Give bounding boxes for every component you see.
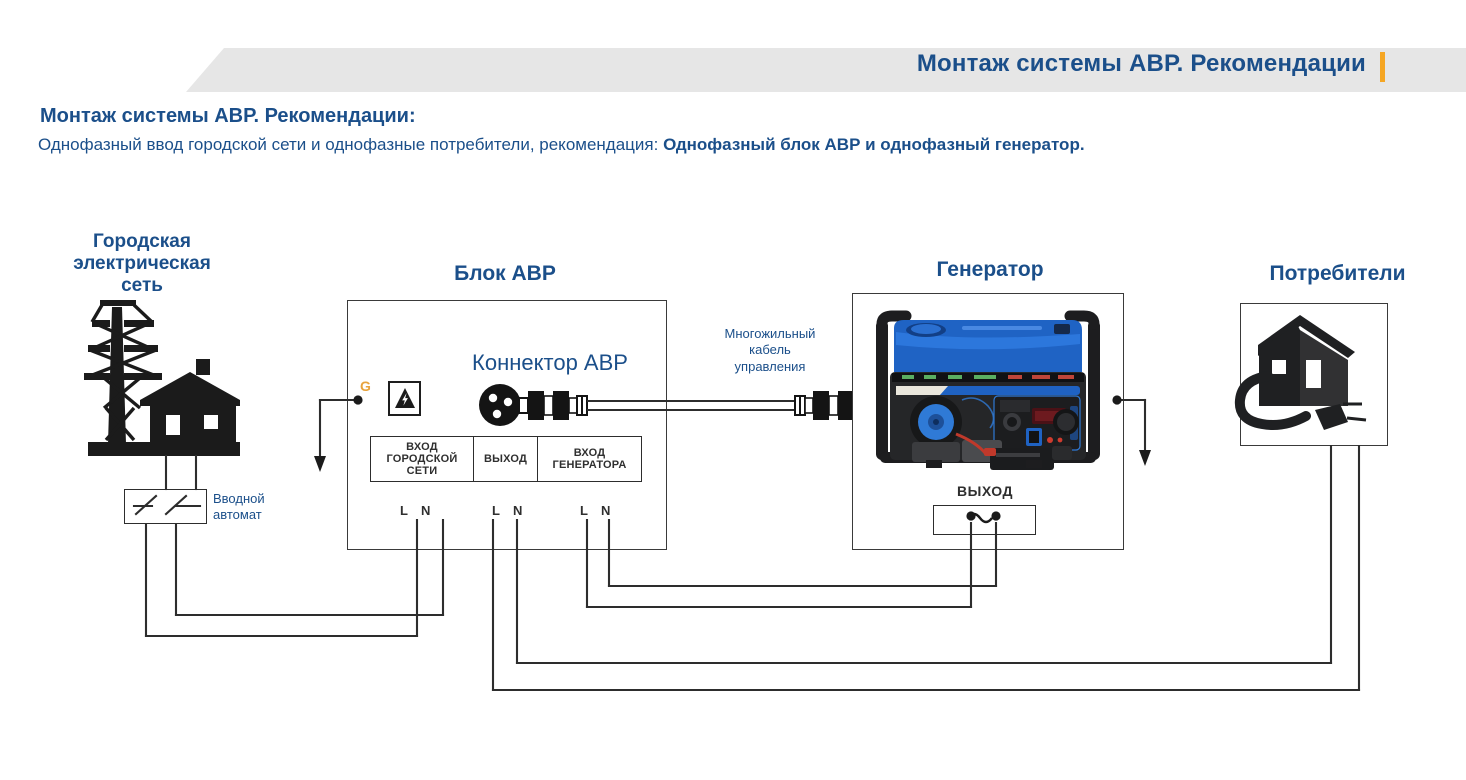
header-title: Монтаж системы АВР. Рекомендации: [917, 50, 1366, 78]
label-generator-output: ВЫХОД: [900, 483, 1070, 499]
label-city-grid: Городская электрическая сеть: [22, 231, 262, 297]
l-label: L: [580, 503, 588, 518]
label-consumers: Потребители: [1215, 262, 1460, 286]
ln-labels-mains: LN: [400, 503, 430, 518]
label-avr-connector: Коннектор АВР: [440, 350, 660, 376]
power-pylon-icon: [84, 300, 240, 456]
label-ground-terminal: G: [360, 378, 371, 394]
ln-labels-generator: LN: [580, 503, 610, 518]
intro-text-prefix: Однофазный ввод городской сети и однофаз…: [38, 135, 663, 154]
terminal-generator-input: ВХОД ГЕНЕРАТОРА: [538, 436, 642, 482]
high-voltage-warning-icon: [388, 381, 421, 416]
label-generator: Генератор: [865, 258, 1115, 282]
diagram-canvas: Монтаж системы АВР. Рекомендации Монтаж …: [0, 0, 1466, 780]
warning-triangle-glyph: [394, 387, 416, 410]
intro-text-strong: Однофазный блок АВР и однофазный генерат…: [663, 135, 1085, 154]
label-avr-block: Блок АВР: [390, 262, 620, 286]
l-label: L: [492, 503, 500, 518]
ln-labels-output: LN: [492, 503, 522, 518]
terminal-mains-input: ВХОД ГОРОДСКОЙ СЕТИ: [370, 436, 474, 482]
header-accent-bar: [1380, 52, 1385, 82]
intro-paragraph: Однофазный ввод городской сети и однофаз…: [38, 133, 1378, 157]
n-label: N: [513, 503, 522, 518]
house-icon: [140, 359, 240, 446]
label-control-cable: Многожильный кабель управления: [675, 326, 865, 375]
consumers-enclosure: [1240, 303, 1388, 446]
label-input-breaker: Вводной автомат: [213, 491, 323, 524]
l-label: L: [400, 503, 408, 518]
generator-photo: [866, 310, 1110, 478]
generator-output-socket-box: [933, 505, 1036, 535]
page-title: Монтаж системы АВР. Рекомендации:: [40, 105, 416, 128]
n-label: N: [421, 503, 430, 518]
n-label: N: [601, 503, 610, 518]
input-breaker-box: [124, 489, 207, 524]
terminal-output: ВЫХОД: [474, 436, 538, 482]
